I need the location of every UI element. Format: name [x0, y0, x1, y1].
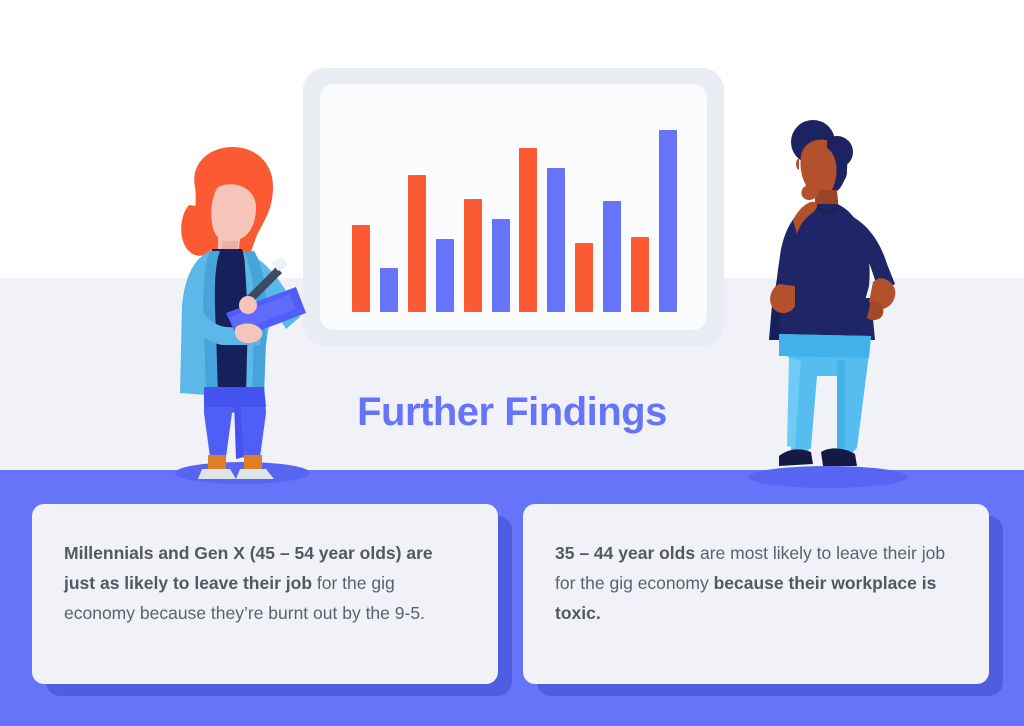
finding-card-millennials-gen-x: Millennials and Gen X (45 – 54 year olds… — [32, 504, 498, 684]
bar-5 — [464, 199, 482, 312]
right-card-text: 35 – 44 year olds are most likely to lea… — [555, 538, 953, 628]
bar-1 — [352, 225, 370, 312]
bar-11 — [631, 237, 649, 312]
bar-3 — [408, 175, 426, 312]
right-card-bold-lead: 35 – 44 year olds — [555, 543, 695, 563]
bar-8 — [547, 168, 565, 312]
ear — [796, 158, 799, 170]
bar-7 — [519, 148, 537, 312]
bar-4 — [436, 239, 454, 312]
hand-upper — [239, 296, 257, 314]
sock-left — [208, 455, 226, 469]
bar-6 — [492, 219, 510, 312]
illustration-woman-with-clipboard — [140, 145, 310, 490]
shoe-left — [779, 449, 813, 466]
shoe-left — [198, 469, 236, 479]
bar-12 — [659, 130, 677, 312]
shoe-right — [236, 469, 274, 479]
finding-card-35-44-year-olds: 35 – 44 year olds are most likely to lea… — [523, 504, 989, 684]
pants-waist — [779, 334, 871, 358]
bar-chart — [352, 130, 677, 312]
bar-9 — [575, 243, 593, 312]
bar-2 — [380, 268, 398, 312]
left-card-text: Millennials and Gen X (45 – 54 year olds… — [64, 538, 462, 628]
forearm-left — [770, 284, 795, 313]
bar-10 — [603, 201, 621, 312]
page-title: Further Findings — [0, 390, 1024, 435]
infographic-canvas: Further Findings Millennials and Gen X (… — [0, 0, 1024, 726]
sock-right — [244, 455, 262, 469]
